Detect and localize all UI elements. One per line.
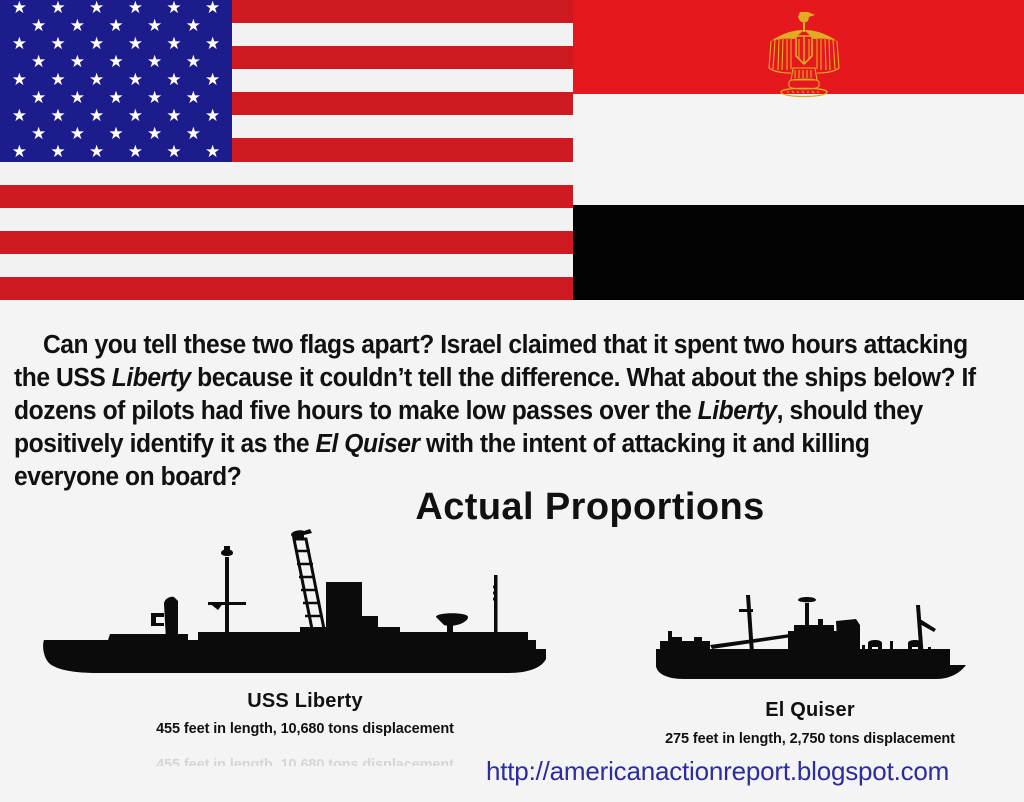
us-flag-star-icon: ★: [127, 144, 143, 160]
us-flag-star-icon: ★: [166, 144, 182, 160]
us-flag-star-icon: ★: [147, 54, 163, 70]
us-flag-star-icon: ★: [108, 18, 124, 34]
egypt-flag-white-band: [573, 94, 1024, 205]
flag-band: ★★★★★★★★★★★★★★★★★★★★★★★★★★★★★★★★★★★★★★★★…: [0, 0, 1024, 300]
intro-paragraph: Can you tell these two flags apart? Isra…: [14, 329, 979, 494]
us-flag-star-icon: ★: [50, 36, 66, 52]
us-flag-star-icon: ★: [205, 144, 221, 160]
us-flag-stripe: [0, 185, 573, 208]
us-flag-star-icon: ★: [89, 0, 105, 16]
us-flag-star-icon: ★: [31, 18, 47, 34]
us-flag-star-icon: ★: [127, 72, 143, 88]
us-flag-star-icon: ★: [69, 54, 85, 70]
united-states-flag: ★★★★★★★★★★★★★★★★★★★★★★★★★★★★★★★★★★★★★★★★…: [0, 0, 573, 300]
us-flag-star-icon: ★: [31, 54, 47, 70]
us-flag-star-icon: ★: [11, 72, 27, 88]
us-flag-star-icon: ★: [166, 72, 182, 88]
ship-label-uss-liberty: USS Liberty: [145, 690, 465, 713]
us-flag-star-row: ★★★★★★: [0, 144, 232, 162]
ship-name-italic: Liberty: [112, 364, 191, 392]
us-flag-star-icon: ★: [89, 72, 105, 88]
us-flag-star-icon: ★: [185, 18, 201, 34]
us-flag-star-icon: ★: [108, 54, 124, 70]
poster-canvas: ★★★★★★★★★★★★★★★★★★★★★★★★★★★★★★★★★★★★★★★★…: [0, 0, 1024, 802]
uss-liberty-silhouette: [38, 509, 568, 684]
us-flag-star-icon: ★: [11, 0, 27, 16]
us-flag-star-icon: ★: [147, 126, 163, 142]
us-flag-star-icon: ★: [205, 108, 221, 124]
us-flag-star-icon: ★: [166, 108, 182, 124]
us-flag-star-icon: ★: [185, 90, 201, 106]
us-flag-star-icon: ★: [166, 0, 182, 16]
ship-spec-el-quiser: 275 feet in length, 2,750 tons displacem…: [640, 731, 980, 747]
us-flag-star-icon: ★: [11, 36, 27, 52]
us-flag-canton: ★★★★★★★★★★★★★★★★★★★★★★★★★★★★★★★★★★★★★★★★…: [0, 0, 232, 162]
us-flag-star-row: ★★★★★: [0, 18, 232, 36]
us-flag-star-icon: ★: [31, 126, 47, 142]
us-flag-star-row: ★★★★★: [0, 90, 232, 108]
us-flag-star-icon: ★: [127, 0, 143, 16]
us-flag-star-icon: ★: [108, 90, 124, 106]
us-flag-star-icon: ★: [205, 72, 221, 88]
us-flag-star-icon: ★: [50, 144, 66, 160]
us-flag-star-icon: ★: [50, 0, 66, 16]
blog-url-link[interactable]: http://americanactionreport.blogspot.com: [486, 756, 949, 787]
egypt-flag: [573, 0, 1024, 300]
us-flag-star-icon: ★: [127, 36, 143, 52]
us-flag-star-icon: ★: [69, 18, 85, 34]
us-flag-star-icon: ★: [205, 0, 221, 16]
us-flag-star-icon: ★: [11, 108, 27, 124]
us-flag-star-icon: ★: [108, 126, 124, 142]
us-flag-star-icon: ★: [127, 108, 143, 124]
us-flag-star-icon: ★: [69, 90, 85, 106]
us-flag-star-icon: ★: [147, 90, 163, 106]
us-flag-star-icon: ★: [166, 36, 182, 52]
us-flag-star-icon: ★: [147, 18, 163, 34]
us-flag-star-icon: ★: [185, 126, 201, 142]
us-flag-star-icon: ★: [50, 108, 66, 124]
us-flag-star-icon: ★: [11, 144, 27, 160]
us-flag-star-icon: ★: [89, 144, 105, 160]
us-flag-star-icon: ★: [185, 54, 201, 70]
us-flag-star-icon: ★: [205, 36, 221, 52]
eagle-of-saladin-icon: [759, 8, 849, 104]
us-flag-star-icon: ★: [31, 90, 47, 106]
ship-spec-uss-liberty: 455 feet in length, 10,680 tons displace…: [115, 721, 495, 737]
us-flag-stripe: [0, 277, 573, 300]
ship-name-italic: Liberty: [698, 397, 777, 425]
us-flag-star-icon: ★: [89, 108, 105, 124]
us-flag-star-icon: ★: [69, 126, 85, 142]
ship-label-el-quiser: El Quiser: [660, 699, 960, 722]
us-flag-star-icon: ★: [50, 72, 66, 88]
egypt-flag-black-band: [573, 205, 1024, 300]
ship-spec-uss-liberty-ghost: 455 feet in length, 10,680 tons displace…: [115, 757, 495, 766]
us-flag-star-row: ★★★★★: [0, 126, 232, 144]
ship-name-italic: El Quiser: [315, 430, 419, 458]
us-flag-stripe: [0, 231, 573, 254]
us-flag-star-icon: ★: [89, 36, 105, 52]
us-flag-star-row: ★★★★★: [0, 54, 232, 72]
el-quiser-silhouette: [650, 587, 980, 684]
